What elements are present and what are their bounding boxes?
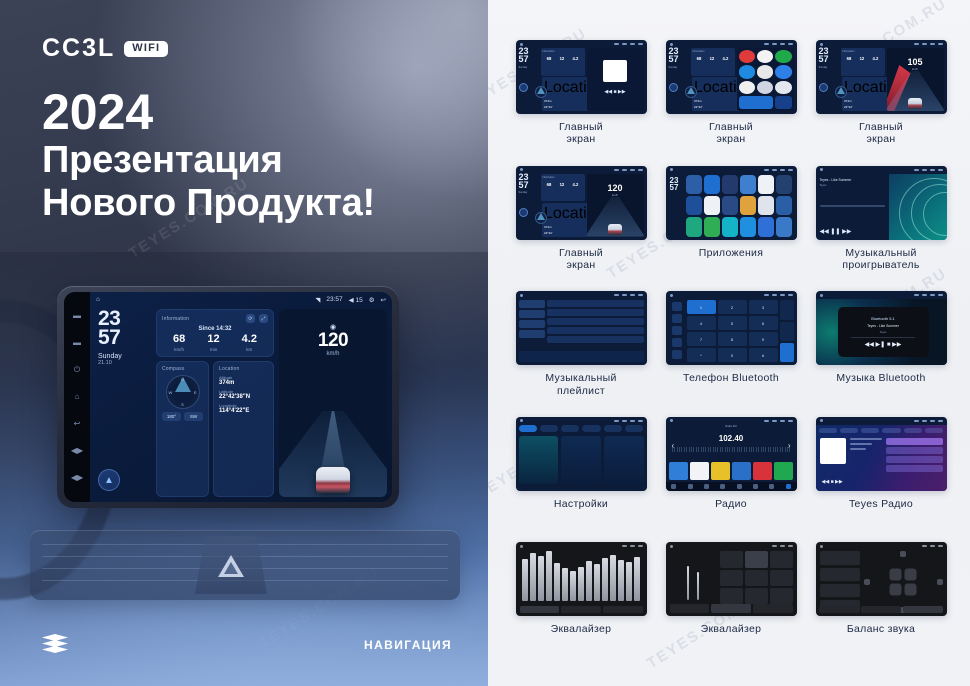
headline-line-2: Нового Продукта!: [42, 182, 375, 225]
volume-level: ◀ 15: [349, 296, 363, 304]
status-bar: ⌂ ◥ 23:57 ◀ 15 ⚙ ↩: [90, 292, 392, 307]
location-widget[interactable]: Location Altitude 374m Latitude 22°42'38…: [213, 361, 274, 497]
stat-item: 4.2 km: [242, 334, 257, 352]
clock-widget: 23 57 Sunday 21.10 ▲: [95, 309, 151, 497]
mute-button[interactable]: ◀▶: [71, 474, 83, 482]
compass-point-w: W: [169, 390, 173, 395]
thumbnail-teyes-radio[interactable]: ◀◀ ■ ▶▶: [816, 417, 947, 491]
gallery-item[interactable]: 2357 Приложения: [660, 166, 802, 288]
gallery-item[interactable]: ◀◀ ■ ▶▶ Teyes Радио: [810, 417, 952, 539]
thumbnail-caption: Приложения: [699, 247, 763, 259]
thumbnail-caption: Главныйэкран: [709, 121, 753, 146]
hero-headline: 2024 Презентация Нового Продукта!: [42, 86, 375, 224]
head-unit-screen[interactable]: ▬ ▬ ⏻ ⌂ ↩ ◀▶ ◀▶ ⌂ ◥ 23:57 ◀ 15: [64, 292, 392, 502]
thumbnail-caption: Эквалайзер: [551, 623, 612, 635]
gallery-item[interactable]: Teyes - Like Summer Teyes ◀◀ ❚❚ ▶▶ Музык…: [810, 166, 952, 288]
brand-logo: CC3L WIFI: [42, 34, 168, 63]
thumbnail-radio[interactable]: Radio FM 102.40 ‹›: [666, 417, 797, 491]
home-widgets: 23 57 Sunday 21.10 ▲ Information: [90, 307, 392, 502]
wifi-icon: ◥: [315, 296, 320, 304]
gallery-item[interactable]: 2357Sunday Information68124.2 Location37…: [510, 166, 652, 288]
left-hero-panel: TEYES.COM.RU TEYES.COM.RU CC3L WIFI 2024…: [0, 0, 488, 686]
left-footer: НАВИГАЦИЯ: [0, 634, 488, 656]
presentation-page: TEYES.COM.RU TEYES.COM.RU CC3L WIFI 2024…: [0, 0, 970, 686]
hazard-triangle-icon: [218, 555, 244, 577]
thumbnail-caption: Настройки: [554, 498, 608, 510]
brand-name: CC3L: [42, 34, 115, 63]
clock-hours: 23 57: [95, 309, 151, 348]
since-label: Since 14:32: [162, 326, 268, 332]
navigation-label: НАВИГАЦИЯ: [364, 638, 452, 652]
thumbnail-caption: Главныйэкран: [859, 121, 903, 146]
speed-unit: km/h: [279, 351, 387, 357]
head-unit-device: ▬ ▬ ⏻ ⌂ ↩ ◀▶ ◀▶ ⌂ ◥ 23:57 ◀ 15: [57, 286, 399, 508]
headline-line-1: Презентация: [42, 139, 375, 182]
gallery-item[interactable]: Эквалайзер: [510, 542, 652, 664]
thumbnail-equalizer[interactable]: [516, 542, 647, 616]
compass-heading: 180°: [162, 412, 181, 421]
expand-icon[interactable]: ⤢: [259, 314, 268, 323]
gallery-item[interactable]: 2357Sunday Information68124.2 Location37…: [510, 40, 652, 162]
mic-button[interactable]: ◀▶: [71, 447, 83, 455]
information-title: Information: [162, 316, 189, 322]
trip-stats: 68 km/h 12 min 4.2 km: [162, 334, 268, 352]
thumbnail-caption: Teyes Радио: [849, 498, 913, 510]
speed-value: 120: [279, 331, 387, 350]
compass-title: Compass: [162, 366, 203, 372]
gallery-item[interactable]: Bluetooth 5.1 Teyes - Like Summer Teyes …: [810, 291, 952, 413]
wifi-badge: WIFI: [124, 41, 168, 57]
status-time: 23:57: [326, 296, 342, 303]
back-button[interactable]: ↩: [74, 420, 81, 428]
info-column: Information ⟳ ⤢ Since 14:32 68: [156, 309, 274, 497]
thumbnail-balance[interactable]: [816, 542, 947, 616]
thumbnail-caption: Главныйэкран: [559, 247, 603, 272]
stat-item: 68 km/h: [173, 334, 185, 352]
location-title: Location: [219, 366, 268, 372]
thumbnail-home-apps[interactable]: 2357Sunday Information68124.2 Location37…: [666, 40, 797, 114]
altitude-row: Altitude 374m: [219, 375, 268, 386]
gallery-item[interactable]: Radio FM 102.40 ‹› Радио: [660, 417, 802, 539]
clock-minutes: 57: [98, 328, 151, 347]
clock-date: 21.10: [95, 360, 151, 366]
thumbnail-equalizer-2[interactable]: [666, 542, 797, 616]
head-unit-body: ⌂ ◥ 23:57 ◀ 15 ⚙ ↩ 23: [90, 292, 392, 502]
driving-view-widget[interactable]: ◉ 120 km/h: [279, 309, 387, 497]
gallery-item[interactable]: 2357Sunday Information68124.2 Location37…: [660, 40, 802, 162]
screenshot-gallery-panel: TEYES.COM.RU TEYES.COM.RU TEYES.COM.RU T…: [488, 0, 970, 686]
layers-icon: [42, 634, 68, 656]
thumbnail-apps[interactable]: 2357: [666, 166, 797, 240]
compass-point-n: N: [181, 377, 184, 382]
home-indicator-icon[interactable]: ⌂: [96, 296, 100, 303]
gallery-item[interactable]: Музыкальныйплейлист: [510, 291, 652, 413]
gallery-item[interactable]: 2357Sunday Information68124.2 Location37…: [810, 40, 952, 162]
thumbnail-dialer[interactable]: 123456789*0#: [666, 291, 797, 365]
thumbnail-home-media[interactable]: 2357Sunday Information68124.2 Location37…: [516, 40, 647, 114]
refresh-icon[interactable]: ⟳: [246, 314, 255, 323]
thumbnail-caption: Телефон Bluetooth: [683, 372, 779, 384]
thumbnail-caption: Музыка Bluetooth: [836, 372, 925, 384]
thumbnail-bt-music[interactable]: Bluetooth 5.1 Teyes - Like Summer Teyes …: [816, 291, 947, 365]
back-arrow-icon[interactable]: ↩: [381, 296, 386, 304]
volume-plus-button[interactable]: ▬: [73, 339, 81, 347]
thumbnail-caption: Радио: [715, 498, 747, 510]
gallery-item[interactable]: Настройки: [510, 417, 652, 539]
thumbnail-caption: Музыкальныйплейлист: [545, 372, 616, 397]
headline-year: 2024: [42, 86, 375, 139]
gear-icon[interactable]: ⚙: [369, 296, 375, 304]
volume-minus-button[interactable]: ▬: [73, 312, 81, 320]
car-3d-model: [316, 467, 350, 493]
thumbnail-caption: Музыкальныйпроигрыватель: [842, 247, 919, 272]
thumbnail-home-speed-red[interactable]: 2357Sunday Information68124.2 Location37…: [816, 40, 947, 114]
thumbnail-settings[interactable]: [516, 417, 647, 491]
thumbnail-media-player[interactable]: Teyes - Like Summer Teyes ◀◀ ❚❚ ▶▶: [816, 166, 947, 240]
thumbnail-grid: 2357Sunday Information68124.2 Location37…: [510, 40, 952, 664]
compass-dial: N E S W: [166, 375, 200, 409]
head-unit-side-buttons[interactable]: ▬ ▬ ⏻ ⌂ ↩ ◀▶ ◀▶: [64, 292, 90, 502]
gallery-item[interactable]: Баланс звука: [810, 542, 952, 664]
thumbnail-caption: Эквалайзер: [701, 623, 762, 635]
thumbnail-playlist[interactable]: [516, 291, 647, 365]
speed-readout: ◉ 120 km/h: [279, 323, 387, 357]
latitude-row: Latitude 22°42'38"N: [219, 389, 268, 400]
navigation-arrow-icon[interactable]: ▲: [98, 469, 120, 491]
compass-direction: SW: [184, 412, 203, 421]
compass-widget[interactable]: Compass N E S W 180°: [156, 361, 209, 497]
stat-item: 12 min: [207, 334, 219, 352]
gallery-item[interactable]: Эквалайзер: [660, 542, 802, 664]
gallery-item[interactable]: 123456789*0# Телефон Bluetooth: [660, 291, 802, 413]
hazard-light-button[interactable]: [195, 536, 267, 594]
thumbnail-caption: Баланс звука: [847, 623, 915, 635]
power-button[interactable]: ⏻: [74, 366, 80, 374]
compass-point-e: E: [194, 390, 197, 395]
compass-point-s: S: [181, 402, 184, 407]
information-card: Information ⟳ ⤢ Since 14:32 68: [156, 309, 274, 357]
thumbnail-home-speed[interactable]: 2357Sunday Information68124.2 Location37…: [516, 166, 647, 240]
thumbnail-caption: Главныйэкран: [559, 121, 603, 146]
longitude-row: Longitude 114°4'22"E: [219, 403, 268, 414]
clock-day: Sunday: [95, 353, 151, 360]
home-button[interactable]: ⌂: [75, 393, 80, 401]
